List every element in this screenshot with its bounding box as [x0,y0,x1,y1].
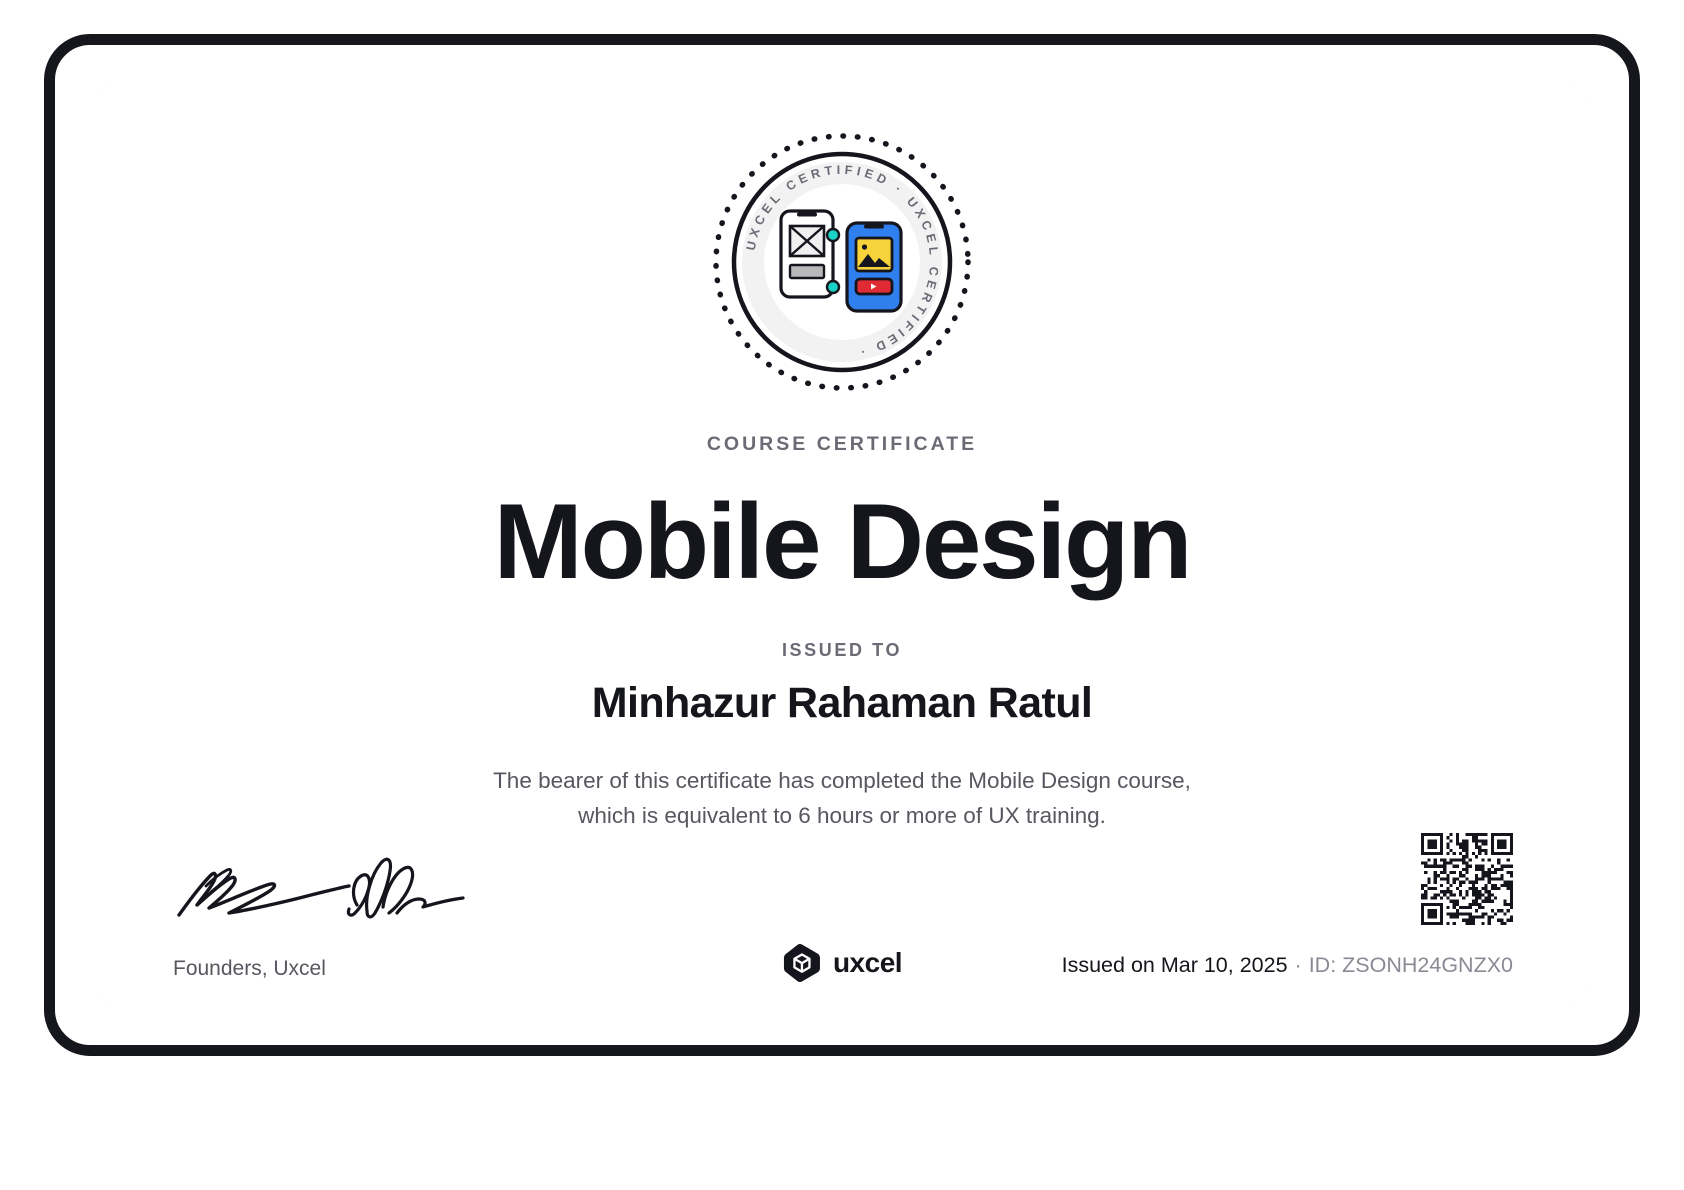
course-title: Mobile Design [95,485,1589,597]
wireframe-phone-notch [797,213,817,217]
certificate-body-text: The bearer of this certificate has compl… [95,763,1589,833]
uxcel-wordmark: uxcel [833,947,902,979]
anchor-dot-bottom [827,281,839,293]
uxcel-hex-mark [782,943,822,983]
uxcel-certified-badge: UXCEL CERTIFIED · UXCEL CERTIFIED · [707,127,977,397]
certificate-inner-panel: UXCEL CERTIFIED · UXCEL CERTIFIED · [95,85,1589,1005]
recipient-name: Minhazur Rahaman Ratul [95,679,1589,728]
certificate-card: UXCEL CERTIFIED · UXCEL CERTIFIED · [95,85,1589,1005]
issue-date: Issued on Mar 10, 2025 [1062,953,1288,977]
certificate-id: ID: ZSONH24GNZX0 [1309,953,1513,977]
founder-signatures [171,845,471,925]
anchor-dot-top [827,229,839,241]
founders-label: Founders, Uxcel [173,957,326,981]
body-line-1: The bearer of this certificate has compl… [95,763,1589,798]
issue-info-line: Issued on Mar 10, 2025·ID: ZSONH24GNZX0 [1062,953,1513,978]
uxcel-logo: uxcel [782,943,902,983]
wireframe-button-box [790,265,824,278]
issue-separator: · [1288,953,1309,977]
styled-phone-notch [864,225,884,229]
issued-to-label: ISSUED TO [95,640,1589,661]
course-certificate-eyebrow: COURSE CERTIFICATE [95,433,1589,456]
verification-qr-code[interactable] [1421,833,1513,925]
body-line-2: which is equivalent to 6 hours or more o… [95,798,1589,833]
image-sun-dot [862,244,867,249]
certificate-frame: UXCEL CERTIFIED · UXCEL CERTIFIED · [44,34,1640,1056]
